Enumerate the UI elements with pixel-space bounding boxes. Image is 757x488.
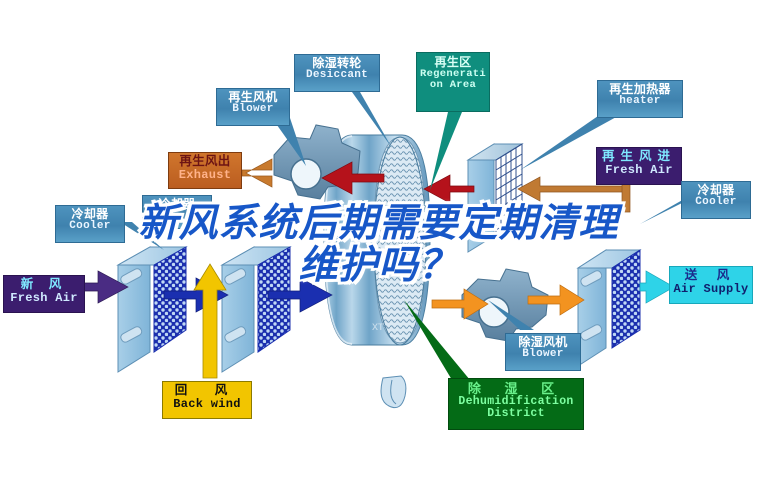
label-desiccant: 除湿转轮 Desiccant bbox=[294, 54, 380, 92]
label-regeneration-blower: 再生风机 Blower bbox=[216, 88, 290, 126]
regeneration-heater bbox=[468, 144, 522, 252]
label-dehumidification-district: 除 湿 区 Dehumidification District bbox=[448, 378, 584, 430]
exhaust-arrow bbox=[242, 159, 272, 187]
cooler-coil-2 bbox=[222, 247, 290, 372]
label-regen-fresh-air: 再生风进 Fresh Air bbox=[596, 147, 682, 185]
label-regeneration-heater: 再生加热器 heater bbox=[597, 80, 683, 118]
label-back-wind: 回 风 Back wind bbox=[162, 381, 252, 419]
watermark: xт bbox=[372, 319, 384, 333]
label-fresh-air: 新 风 Fresh Air bbox=[3, 275, 85, 313]
label-cooler-left-2: 冷却器 bbox=[142, 195, 212, 229]
label-cooler-left: 冷却器 Cooler bbox=[55, 205, 125, 243]
label-cooler-right: 冷却器 Cooler bbox=[681, 181, 751, 219]
desiccant-dehumidifier-diagram: xт 除湿转轮 Desiccant 再生风机 Blower 再生区 Regene… bbox=[0, 0, 757, 488]
cooler-coil-3 bbox=[578, 250, 640, 366]
label-exhaust: 再生风出 Exhaust bbox=[168, 152, 242, 189]
cooler-coil-1 bbox=[118, 247, 186, 372]
label-dehumidify-blower: 除湿风机 Blower bbox=[505, 333, 581, 371]
label-regeneration-area: 再生区 Regenerati on Area bbox=[416, 52, 490, 112]
regen-hot-arrow-2 bbox=[424, 175, 474, 203]
label-air-supply: 送 风 Air Supply bbox=[669, 266, 753, 304]
